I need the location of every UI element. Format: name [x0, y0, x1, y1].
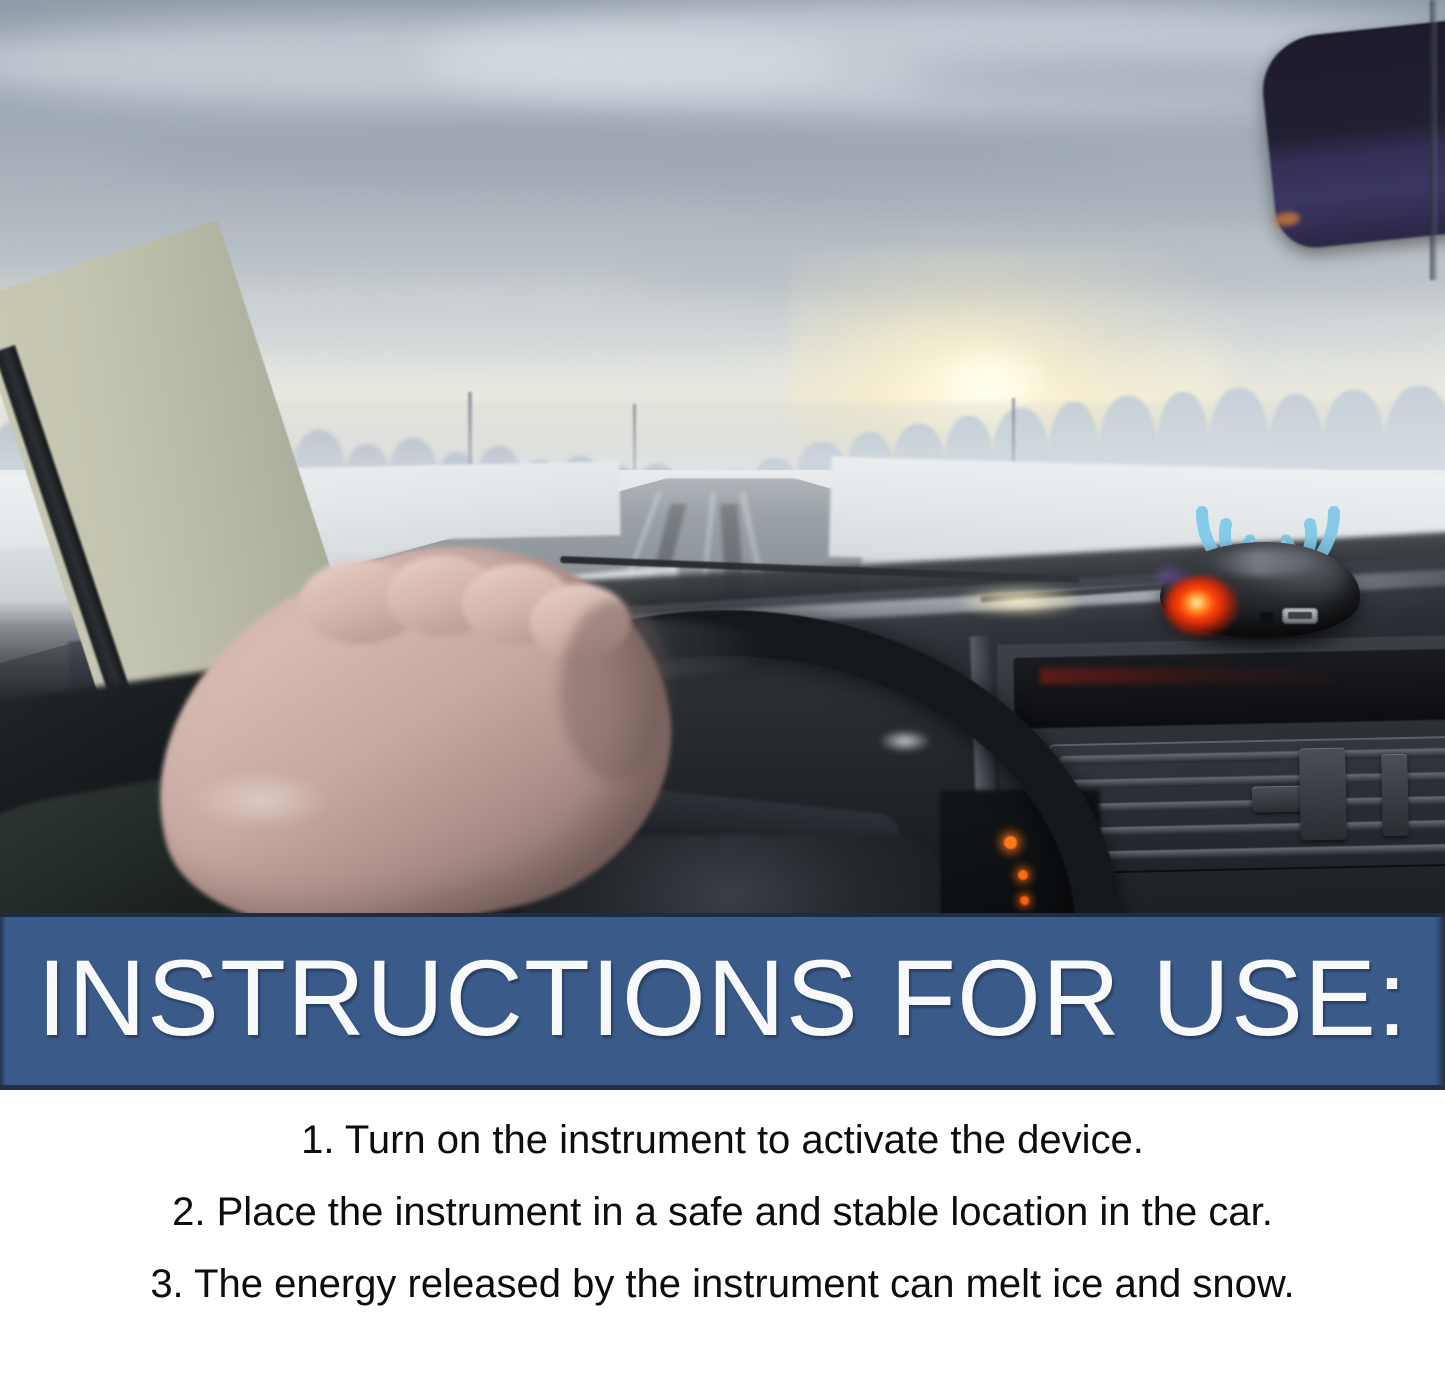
- instructions-list: 1. Turn on the instrument to activate th…: [0, 1090, 1445, 1381]
- banner-edge-right: [1435, 917, 1445, 1085]
- windshield-right-edge: [1430, 0, 1437, 280]
- finger-shadow: [560, 600, 670, 780]
- device-sheen: [1208, 550, 1318, 576]
- dashboard-warning-light: [1004, 836, 1017, 849]
- usb-port-inner: [1288, 612, 1312, 619]
- device-led-core: [1182, 592, 1212, 616]
- banner-title: INSTRUCTIONS FOR USE:: [37, 944, 1408, 1058]
- air-vent-control[interactable]: [1381, 754, 1409, 837]
- sun-glare-on-hood: [960, 586, 1080, 616]
- utility-pole: [633, 404, 636, 480]
- device-button[interactable]: [1260, 612, 1273, 625]
- air-vent-control[interactable]: [1299, 748, 1347, 841]
- dashboard-device: [1130, 480, 1400, 665]
- display-red-glow: [1040, 668, 1340, 684]
- banner-edge-left: [0, 917, 6, 1085]
- instructions-banner: INSTRUCTIONS FOR USE:: [0, 913, 1445, 1090]
- dashboard-warning-light: [1018, 870, 1028, 880]
- product-instruction-image: INSTRUCTIONS FOR USE: 1. Turn on the ins…: [0, 0, 1445, 1381]
- wrist-highlight: [190, 770, 330, 830]
- instruction-step-1: 1. Turn on the instrument to activate th…: [0, 1104, 1445, 1176]
- winter-driving-photo: [0, 0, 1445, 913]
- dashboard-warning-light: [1020, 896, 1029, 905]
- instruction-step-2: 2. Place the instrument in a safe and st…: [0, 1176, 1445, 1248]
- instruction-step-3: 3. The energy released by the instrument…: [0, 1248, 1445, 1320]
